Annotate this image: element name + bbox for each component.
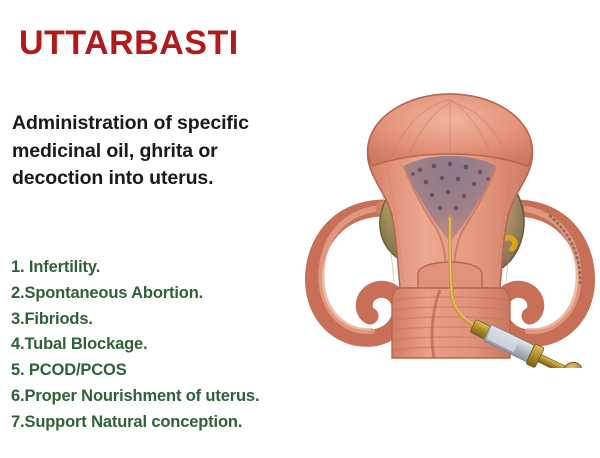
- uterus-anatomy-illustration: [300, 38, 600, 368]
- list-item: 4.Tubal Blockage.: [11, 332, 331, 358]
- list-item: 3.Fibriods.: [11, 307, 331, 333]
- list-item: 6.Proper Nourishment of uterus.: [11, 384, 331, 410]
- benefits-list: 1. Infertility. 2.Spontaneous Abortion. …: [11, 255, 331, 436]
- list-item: 7.Support Natural conception.: [11, 410, 331, 436]
- description-text: Administration of specific medicinal oil…: [12, 110, 312, 193]
- text-column: UTTARBASTI Administration of specific me…: [0, 0, 330, 458]
- syringe-plunger-rod: [538, 354, 568, 368]
- list-item: 1. Infertility.: [11, 255, 331, 281]
- uttarbasti-infographic: UTTARBASTI Administration of specific me…: [0, 0, 600, 458]
- list-item: 5. PCOD/PCOS: [11, 358, 331, 384]
- list-item: 2.Spontaneous Abortion.: [11, 281, 331, 307]
- page-title: UTTARBASTI: [19, 26, 239, 62]
